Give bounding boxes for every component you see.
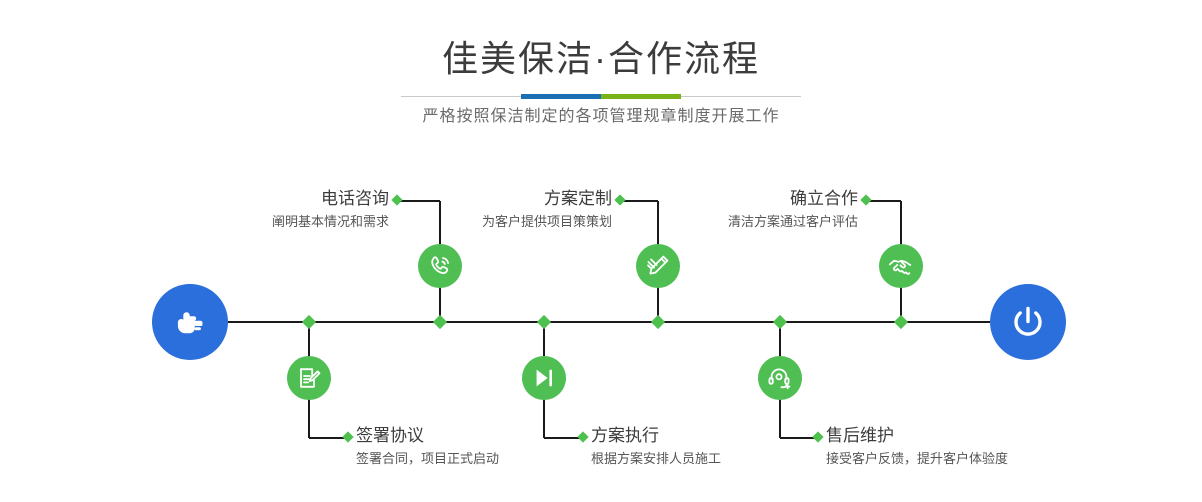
step-icon-circle-establish-cooperation[interactable] bbox=[879, 244, 923, 288]
step-name: 确立合作 bbox=[728, 188, 858, 210]
play-next-icon bbox=[531, 365, 557, 391]
document-edit-icon bbox=[296, 365, 322, 391]
step-icon-circle-after-sales-maintenance[interactable] bbox=[758, 356, 802, 400]
page-title: 佳美保洁·合作流程 bbox=[0, 36, 1202, 82]
pencil-ruler-icon bbox=[645, 253, 671, 279]
step-name: 签署协议 bbox=[356, 425, 499, 447]
step-desc: 根据方案安排人员施工 bbox=[591, 449, 721, 469]
step-icon-circle-sign-agreement[interactable] bbox=[287, 356, 331, 400]
step-icon-circle-plan-customization[interactable] bbox=[636, 244, 680, 288]
step-label-establish-cooperation: 确立合作 清洁方案通过客户评估 bbox=[728, 188, 858, 232]
label-diamond-marker bbox=[342, 431, 353, 442]
divider-segment-blue bbox=[521, 94, 601, 99]
step-label-plan-customization: 方案定制 为客户提供项目策策划 bbox=[482, 188, 612, 232]
axis-diamond-marker bbox=[651, 315, 665, 329]
step-name: 售后维护 bbox=[826, 425, 1008, 447]
axis-diamond-marker bbox=[537, 315, 551, 329]
axis-diamond-marker bbox=[433, 315, 447, 329]
divider-segment-green bbox=[601, 94, 681, 99]
step-desc: 阐明基本情况和需求 bbox=[272, 212, 389, 232]
step-label-plan-execution: 方案执行 根据方案安排人员施工 bbox=[591, 425, 721, 469]
step-icon-circle-phone-consultation[interactable] bbox=[418, 244, 462, 288]
label-diamond-marker bbox=[812, 431, 823, 442]
title-divider bbox=[401, 94, 801, 99]
axis-diamond-marker bbox=[894, 315, 908, 329]
handshake-icon bbox=[888, 253, 914, 279]
step-name: 方案定制 bbox=[482, 188, 612, 210]
step-desc: 为客户提供项目策策划 bbox=[482, 212, 612, 232]
step-name: 方案执行 bbox=[591, 425, 721, 447]
step-icon-circle-plan-execution[interactable] bbox=[522, 356, 566, 400]
step-label-sign-agreement: 签署协议 签署合同，项目正式启动 bbox=[356, 425, 499, 469]
axis-diamond-marker bbox=[773, 315, 787, 329]
label-diamond-marker bbox=[577, 431, 588, 442]
customer-service-icon bbox=[767, 365, 793, 391]
timeline-axis bbox=[228, 321, 990, 323]
phone-call-icon bbox=[427, 253, 453, 279]
step-name: 电话咨询 bbox=[272, 188, 389, 210]
label-diamond-marker bbox=[614, 194, 625, 205]
pointing-hand-icon bbox=[170, 302, 210, 342]
step-desc: 清洁方案通过客户评估 bbox=[728, 212, 858, 232]
timeline-end-node[interactable] bbox=[990, 284, 1066, 360]
step-desc: 签署合同，项目正式启动 bbox=[356, 449, 499, 469]
label-diamond-marker bbox=[860, 194, 871, 205]
step-connector-horizontal bbox=[397, 200, 440, 202]
axis-diamond-marker bbox=[302, 315, 316, 329]
page-subtitle: 严格按照保洁制定的各项管理规章制度开展工作 bbox=[0, 105, 1202, 129]
label-diamond-marker bbox=[391, 194, 402, 205]
step-connector-horizontal bbox=[620, 200, 658, 202]
power-icon bbox=[1007, 301, 1049, 343]
process-flow-page: 佳美保洁·合作流程 严格按照保洁制定的各项管理规章制度开展工作 bbox=[0, 0, 1202, 502]
timeline-start-node[interactable] bbox=[152, 284, 228, 360]
step-label-phone-consultation: 电话咨询 阐明基本情况和需求 bbox=[272, 188, 389, 232]
step-label-after-sales-maintenance: 售后维护 接受客户反馈，提升客户体验度 bbox=[826, 425, 1008, 469]
step-desc: 接受客户反馈，提升客户体验度 bbox=[826, 449, 1008, 469]
